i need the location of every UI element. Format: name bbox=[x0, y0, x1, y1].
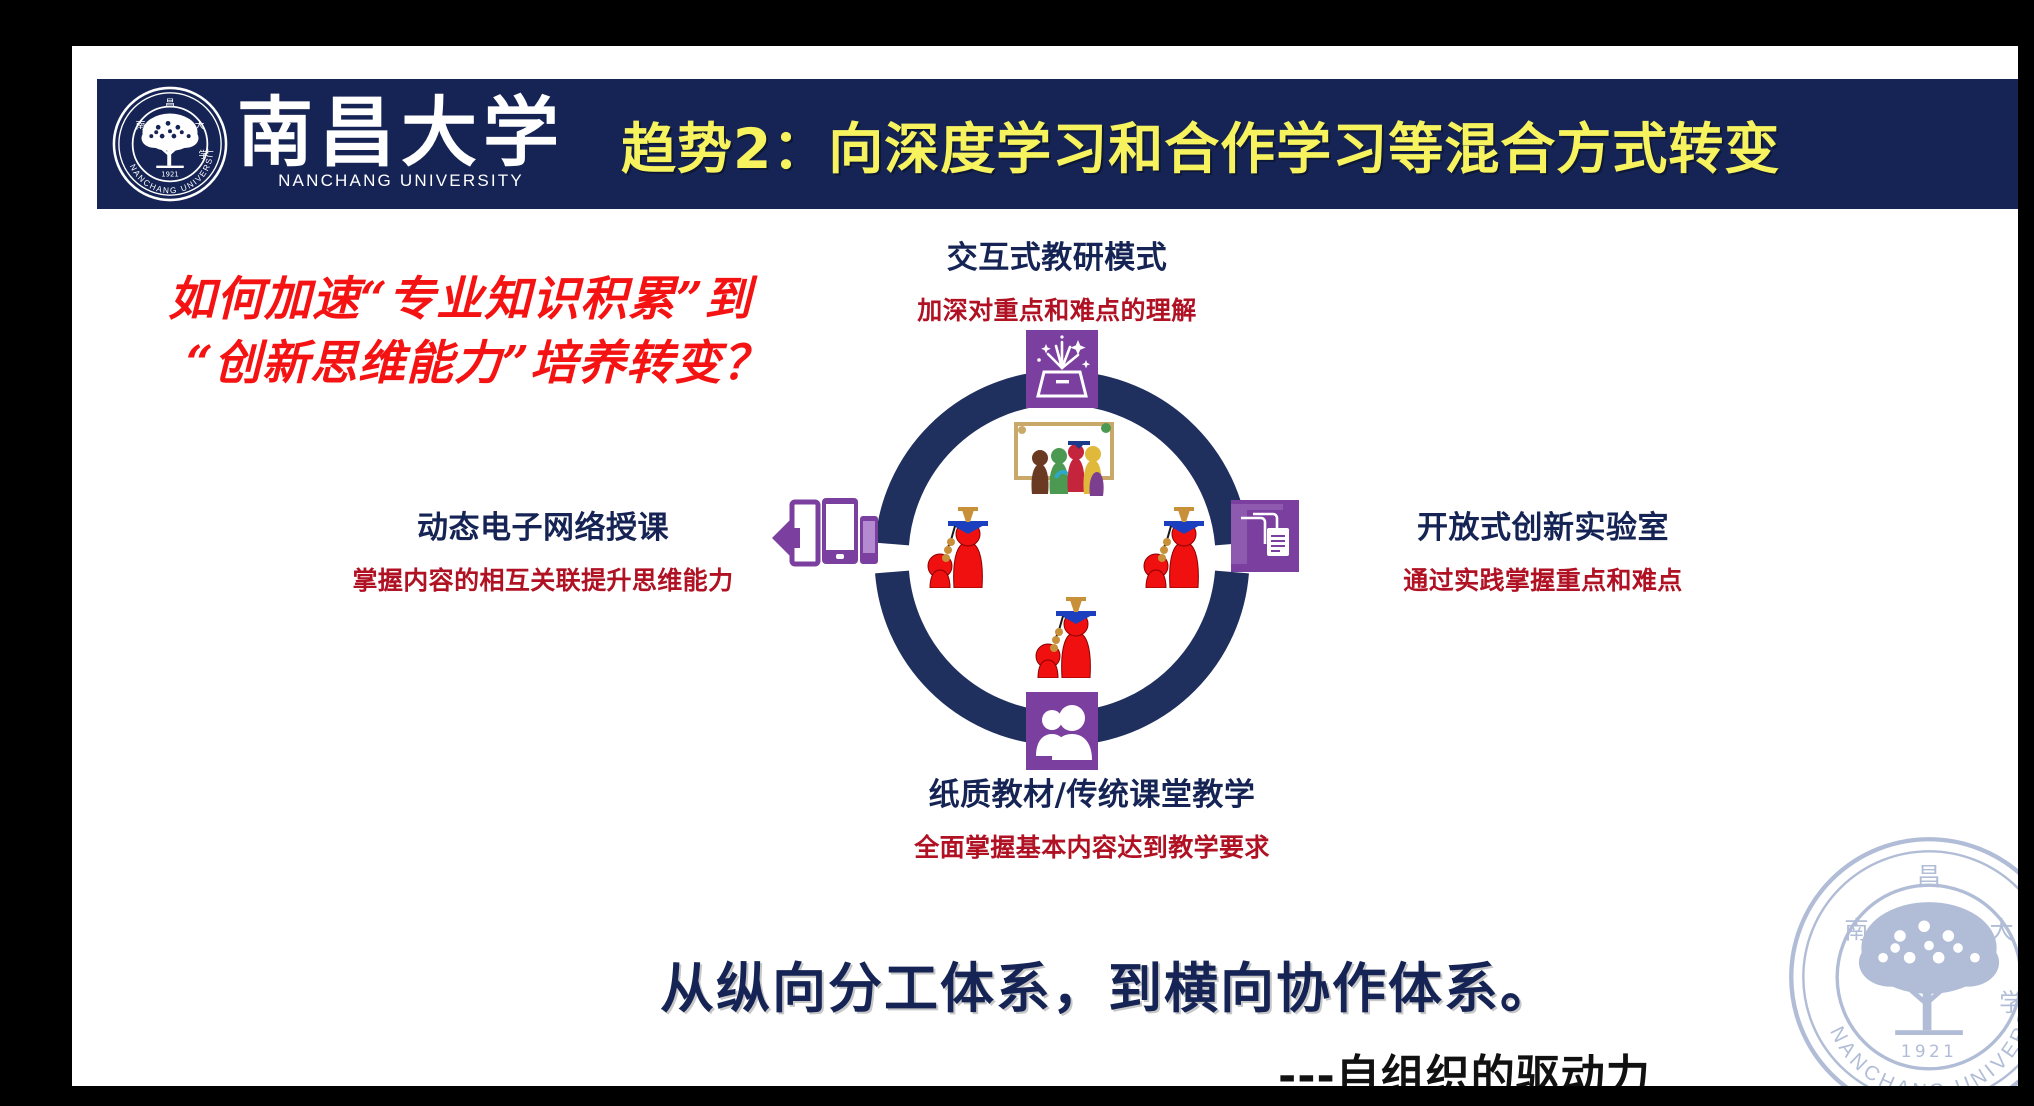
label-top-sub: 加深对重点和难点的理解 bbox=[814, 291, 1300, 327]
page-title: 趋势2：向深度学习和合作学习等混合方式转变 bbox=[621, 104, 1780, 184]
svg-text:昌: 昌 bbox=[1917, 863, 1941, 891]
label-bottom: 纸质教材/传统课堂教学 全面掌握基本内容达到教学要求 bbox=[832, 769, 1352, 864]
question-callout: 如何加速“专业知识积累”到 “创新思维能力”培养转变？ bbox=[168, 268, 808, 396]
watermark-year: 1921 bbox=[1901, 1041, 1958, 1061]
slide-frame: 昌 南 大 学 1921 NANCHANG UNIVERSITY 南昌大学 NA… bbox=[8, 8, 2018, 1086]
label-right: 开放式创新实验室 通过实践掌握重点和难点 bbox=[1322, 502, 1764, 597]
logo-wordmark-cn: 南昌大学 bbox=[237, 97, 565, 170]
logo-wordmark: 南昌大学 NANCHANG UNIVERSITY bbox=[237, 97, 565, 191]
label-left-sub: 掌握内容的相互关联提升思维能力 bbox=[290, 561, 796, 597]
label-left: 动态电子网络授课 掌握内容的相互关联提升思维能力 bbox=[290, 502, 796, 597]
university-logo: 昌 南 大 学 1921 NANCHANG UNIVERSITY 南昌大学 NA… bbox=[111, 85, 565, 203]
graduate-figures-icon bbox=[924, 492, 998, 588]
label-bottom-sub: 全面掌握基本内容达到教学要求 bbox=[832, 828, 1352, 864]
svg-text:大: 大 bbox=[1989, 916, 2013, 944]
nanchang-university-seal-watermark: 昌 南 大 学 1921 NANCHANG UNIVERSITY bbox=[1784, 832, 2018, 1086]
svg-text:南: 南 bbox=[136, 118, 146, 131]
slide-canvas: 昌 南 大 学 1921 NANCHANG UNIVERSITY 南昌大学 NA… bbox=[72, 46, 2018, 1086]
graduate-figures-icon bbox=[1032, 582, 1106, 678]
documents-icon bbox=[1231, 500, 1299, 572]
conclusion-sub: ---自组织的驱动力 bbox=[1278, 1040, 1651, 1086]
cycle-diagram bbox=[796, 342, 1316, 774]
label-right-sub: 通过实践掌握重点和难点 bbox=[1322, 561, 1764, 597]
logo-wordmark-en: NANCHANG UNIVERSITY bbox=[237, 171, 565, 191]
question-line-2: “创新思维能力”培养转变？ bbox=[186, 332, 808, 396]
presentation-fireworks-icon bbox=[1026, 330, 1098, 408]
graduate-figures-icon bbox=[1140, 492, 1214, 588]
label-left-title: 动态电子网络授课 bbox=[290, 502, 796, 547]
header-bar: 昌 南 大 学 1921 NANCHANG UNIVERSITY 南昌大学 NA… bbox=[97, 79, 2018, 209]
svg-text:昌: 昌 bbox=[165, 98, 175, 110]
svg-text:学: 学 bbox=[1999, 989, 2018, 1017]
label-right-title: 开放式创新实验室 bbox=[1322, 502, 1764, 547]
svg-text:南: 南 bbox=[1844, 916, 1868, 944]
label-top-title: 交互式教研模式 bbox=[814, 232, 1300, 277]
question-line-1: 如何加速“专业知识积累”到 bbox=[168, 268, 808, 332]
svg-text:1921: 1921 bbox=[161, 170, 179, 178]
svg-text:大: 大 bbox=[195, 118, 205, 131]
label-bottom-title: 纸质教材/传统课堂教学 bbox=[832, 769, 1352, 814]
conclusion-main: 从纵向分工体系，到横向协作体系。 bbox=[660, 944, 1556, 1023]
collaboration-group-art bbox=[1012, 420, 1116, 504]
nanchang-university-seal-icon: 昌 南 大 学 1921 NANCHANG UNIVERSITY bbox=[111, 85, 229, 203]
label-top: 交互式教研模式 加深对重点和难点的理解 bbox=[814, 232, 1300, 327]
people-group-icon bbox=[1026, 692, 1098, 770]
